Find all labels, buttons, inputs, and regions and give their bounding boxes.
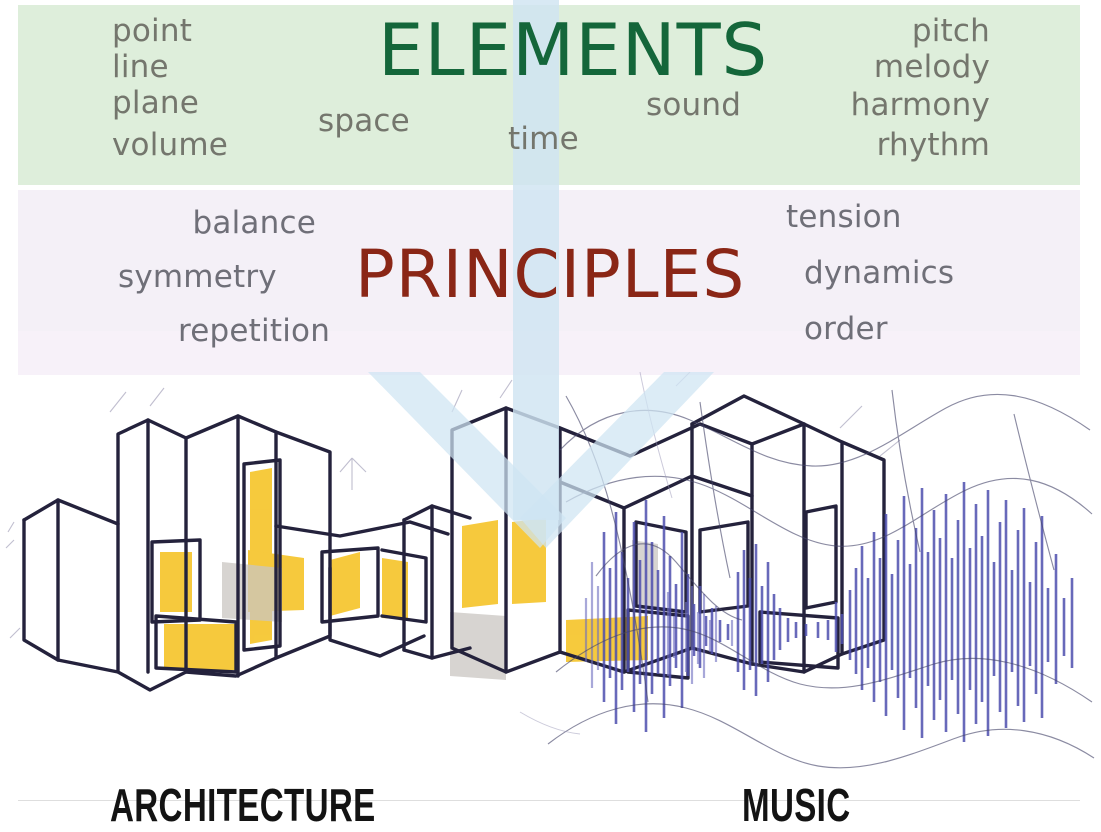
principle-word-balance: balance: [90, 208, 316, 239]
diagram-canvas: ELEMENTS point line plane volume space t…: [0, 0, 1101, 832]
element-word-volume: volume: [112, 130, 228, 161]
element-word-point: point: [112, 16, 192, 47]
music-caption: MUSIC: [742, 778, 851, 832]
element-word-time: time: [508, 124, 579, 155]
principle-word-symmetry: symmetry: [118, 262, 277, 293]
element-word-harmony: harmony: [690, 90, 990, 121]
principle-word-order: order: [804, 314, 888, 345]
principles-title: PRINCIPLES: [355, 236, 745, 313]
element-word-pitch: pitch: [690, 16, 990, 47]
architecture-caption: ARCHITECTURE: [110, 778, 376, 832]
element-word-plane: plane: [112, 88, 199, 119]
element-word-line: line: [112, 52, 169, 83]
element-word-rhythm: rhythm: [690, 130, 990, 161]
element-word-melody: melody: [690, 52, 990, 83]
principle-word-tension: tension: [786, 202, 902, 233]
principle-word-repetition: repetition: [178, 316, 330, 347]
element-word-space: space: [318, 106, 410, 137]
principle-word-dynamics: dynamics: [804, 258, 954, 289]
